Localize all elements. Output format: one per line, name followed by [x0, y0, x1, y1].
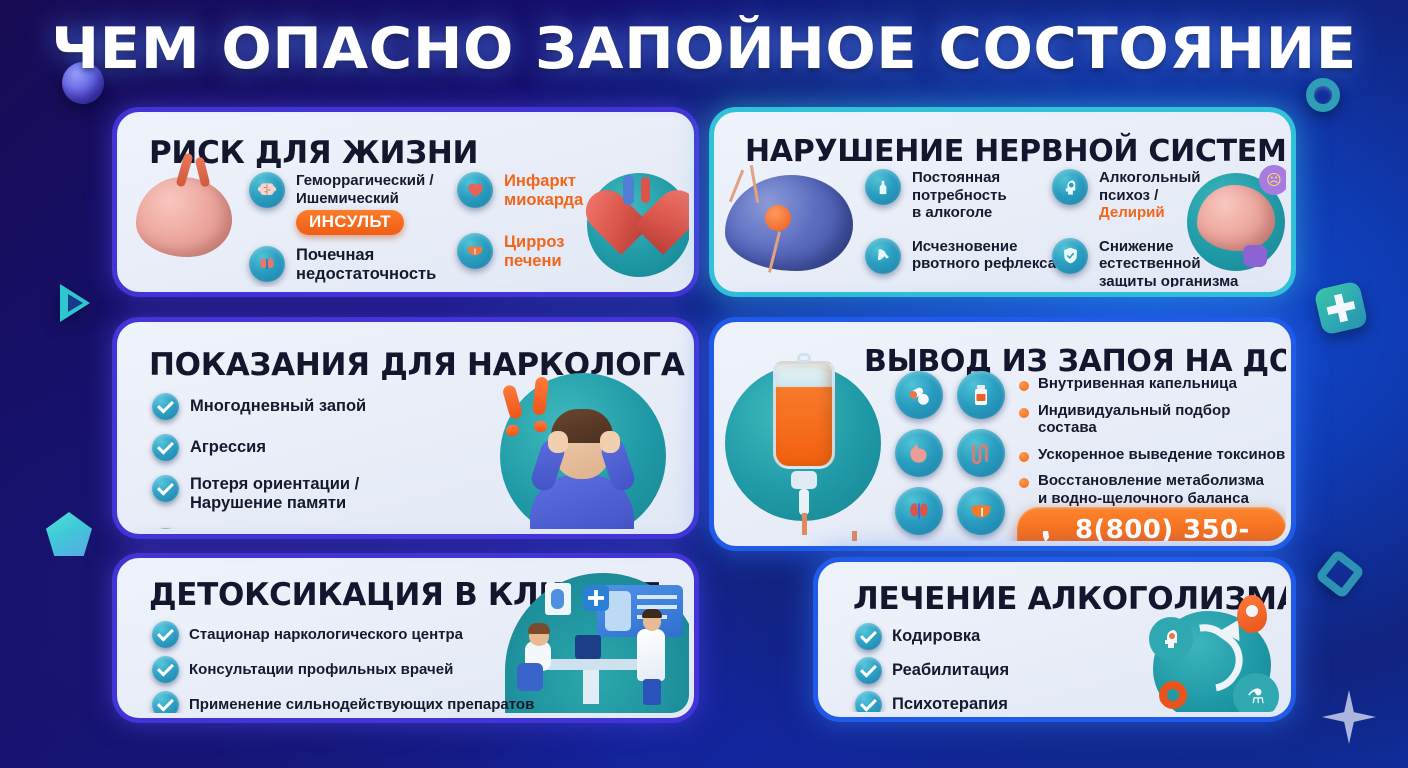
risk-item-1-line1: Почечная — [296, 246, 436, 265]
nervous-item-0-line3: в алкоголе — [912, 204, 1007, 222]
detox-clinic-item-1: Консультации профильных врачей — [152, 656, 534, 683]
check-icon — [152, 434, 179, 461]
check-icon — [152, 691, 179, 713]
risk-item-3-line1: Цирроз — [504, 233, 564, 252]
narcologist-item-2-line1: Потеря ориентации / — [190, 475, 359, 494]
risk-item-2-line1: Инфаркт — [504, 172, 583, 191]
pills-icon — [895, 371, 943, 419]
phone-icon — [1040, 530, 1064, 542]
narcologist-item-0-text: Многодневный запой — [190, 397, 366, 416]
square-outline-decoration — [1315, 549, 1366, 600]
bottle-icon — [865, 169, 901, 205]
bullet-dot-icon — [1019, 452, 1029, 462]
detox-clinic-item-0-text: Стационар наркологического центра — [189, 626, 463, 644]
check-icon — [152, 475, 179, 502]
stomach-icon — [895, 429, 943, 477]
narcologist-item-2: Потеря ориентации / Нарушение памяти — [152, 475, 464, 514]
card-treatment: ЛЕЧЕНИЕ АЛКОГОЛИЗМА ⚗ Кодировка — [818, 562, 1291, 717]
nausea-icon — [865, 238, 901, 274]
neuron-brain-3d-illustration — [725, 175, 853, 271]
nervous-item-2-accent: Делирий — [1099, 204, 1201, 222]
card-narcologist: ПОКАЗАНИЯ ДЛЯ НАРКОЛОГА Многодневный за — [117, 322, 694, 534]
medicine-bottle-icon — [957, 371, 1005, 419]
ring-decoration — [1306, 78, 1340, 112]
nervous-item-0: Постоянная потребность в алкоголе — [865, 169, 1065, 222]
nervous-item-1-line2: рвотного рефлекса — [912, 255, 1056, 273]
card-detox-clinic-heading: ДЕТОКСИКАЦИЯ В КЛИНИКЕ — [149, 577, 661, 613]
home-detox-item-1: Индивидуальный подбор состава — [1019, 402, 1286, 437]
detox-clinic-item-2: Применение сильнодействующих препаратов — [152, 691, 534, 713]
detox-clinic-item-0: Стационар наркологического центра — [152, 621, 534, 648]
treatment-item-0: Кодировка — [855, 623, 1038, 650]
card-nervous: НАРУШЕНИЕ НЕРВНОЙ СИСТЕМЫ ☹ — [714, 112, 1291, 292]
home-detox-item-2: Ускоренное выведение токсинов — [1019, 446, 1286, 464]
brain-3d-illustration — [136, 177, 232, 257]
card-nervous-heading: НАРУШЕНИЕ НЕРВНОЙ СИСТЕМЫ — [745, 134, 1286, 169]
check-icon — [855, 657, 882, 684]
page-title: ЧЕМ ОПАСНО ЗАПОЙНОЕ СОСТОЯНИЕ — [0, 16, 1408, 82]
check-icon — [152, 656, 179, 683]
home-detox-item-2-text: Ускоренное выведение токсинов — [1038, 446, 1285, 464]
detox-clinic-item-2-text: Применение сильнодействующих препаратов — [189, 696, 534, 713]
treatment-item-2-text: Психотерапия — [892, 695, 1008, 712]
home-detox-item-0-text: Внутривенная капельница — [1038, 375, 1237, 393]
home-detox-item-3: Восстановление метаболизма и водно-щелоч… — [1019, 472, 1286, 507]
detox-clinic-item-1-text: Консультации профильных врачей — [189, 661, 453, 679]
home-detox-item-1-text: Индивидуальный подбор состава — [1038, 402, 1286, 437]
sparkle-star-decoration — [1322, 690, 1376, 744]
nervous-item-1-line1: Исчезновение — [912, 238, 1056, 256]
check-icon — [855, 623, 882, 650]
triangle-decoration — [60, 284, 90, 322]
kidneys-icon — [895, 487, 943, 535]
treatment-item-0-text: Кодировка — [892, 627, 980, 646]
risk-item-1: Почечная недостаточность — [249, 246, 449, 285]
home-detox-item-0: Внутривенная капельница — [1019, 375, 1286, 393]
risk-item-2-line2: миокарда — [504, 191, 583, 210]
risk-item-2: Инфаркт миокарда — [457, 172, 617, 211]
narcologist-item-3: Тяжелый абстинентный синдром — [152, 528, 464, 529]
treatment-item-2: Психотерапия — [855, 691, 1038, 712]
narcologist-item-1: Агрессия — [152, 434, 464, 461]
check-icon — [152, 393, 179, 420]
card-narcologist-heading: ПОКАЗАНИЯ ДЛЯ НАРКОЛОГА — [149, 347, 685, 383]
pentagon-decoration — [46, 512, 92, 556]
nervous-item-3: Снижение естественной защиты организма — [1052, 238, 1267, 287]
narcologist-item-2-line2: Нарушение памяти — [190, 494, 359, 513]
narcologist-item-0: Многодневный запой — [152, 393, 464, 420]
card-treatment-heading: ЛЕЧЕНИЕ АЛКОГОЛИЗМА — [853, 581, 1286, 617]
infographic-canvas: ЧЕМ ОПАСНО ЗАПОЙНОЕ СОСТОЯНИЕ РИСК ДЛЯ Ж… — [0, 0, 1408, 768]
check-icon — [152, 528, 179, 529]
roadmap-3d-illustration: ⚗ — [1153, 611, 1271, 712]
card-detox-clinic: ДЕТОКСИКАЦИЯ В КЛИНИКЕ — [117, 558, 694, 718]
heart-icon — [457, 172, 493, 208]
medical-cross-decoration — [1313, 280, 1368, 335]
treatment-item-1: Реабилитация — [855, 657, 1038, 684]
risk-item-0-line2: Ишемический — [296, 190, 434, 208]
nervous-item-2-line1: Алкогольный — [1099, 169, 1201, 187]
treatment-item-1-text: Реабилитация — [892, 661, 1009, 680]
check-icon — [152, 621, 179, 648]
check-icon — [855, 691, 882, 712]
intestine-icon — [957, 429, 1005, 477]
nervous-item-3-line1: Снижение естественной — [1099, 238, 1267, 273]
nervous-item-1: Исчезновение рвотного рефлекса — [865, 238, 1065, 274]
nervous-item-2-line2: психоз / — [1099, 187, 1201, 205]
card-home-detox: ВЫВОД ИЗ ЗАПОЯ НА ДОМУ — [714, 322, 1291, 546]
bullet-dot-icon — [1019, 408, 1029, 418]
home-detox-item-3-line2: и водно-щелочного баланса — [1038, 490, 1264, 508]
bullet-dot-icon — [1019, 478, 1029, 488]
nervous-item-0-line1: Постоянная — [912, 169, 1007, 187]
phone-number: 8(800) 350-73-81 — [1075, 515, 1263, 541]
head-brain-icon — [1052, 169, 1088, 205]
nervous-item-0-line2: потребность — [912, 187, 1007, 205]
nervous-item-3-line2: защиты организма — [1099, 273, 1267, 287]
narcologist-item-1-text: Агрессия — [190, 438, 266, 457]
kidneys-icon — [249, 246, 285, 282]
liver-icon — [957, 487, 1005, 535]
risk-item-0-pill: ИНСУЛЬТ — [296, 210, 404, 235]
risk-item-0-line1: Геморрагический / — [296, 172, 434, 190]
card-risk: РИСК ДЛЯ ЖИЗНИ — [117, 112, 694, 292]
risk-item-3: Цирроз печени — [457, 233, 617, 272]
risk-item-3-line2: печени — [504, 252, 564, 271]
risk-item-1-line2: недостаточность — [296, 265, 436, 284]
shield-check-icon — [1052, 238, 1088, 274]
risk-item-0: Геморрагический / Ишемический ИНСУЛЬТ — [249, 172, 449, 235]
phone-cta-button[interactable]: 8(800) 350-73-81 — [1017, 507, 1286, 541]
card-risk-heading: РИСК ДЛЯ ЖИЗНИ — [149, 135, 478, 171]
liver-icon — [457, 233, 493, 269]
home-detox-item-3-line1: Восстановление метаболизма — [1038, 472, 1264, 490]
nervous-item-2: Алкогольный психоз / Делирий — [1052, 169, 1267, 222]
brain-icon — [249, 172, 285, 208]
bullet-dot-icon — [1019, 381, 1029, 391]
